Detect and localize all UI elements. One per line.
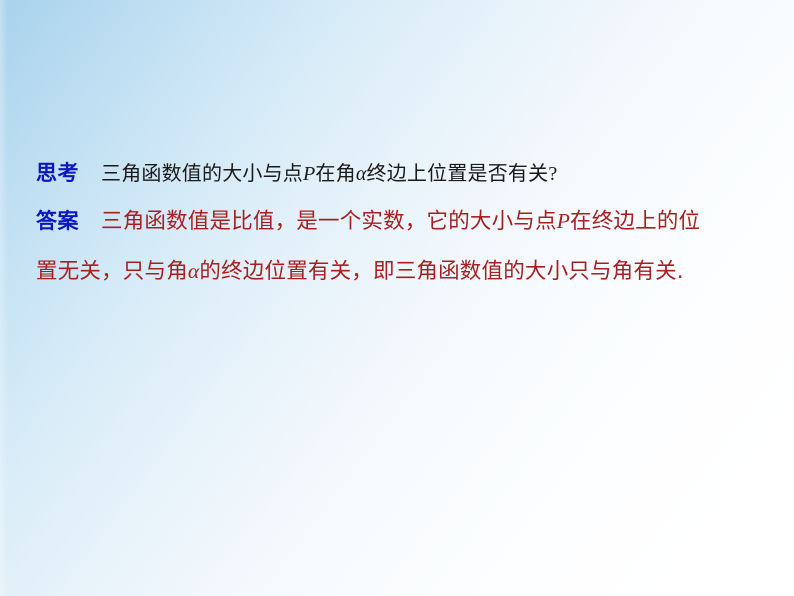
thinking-row: 思考三角函数值的大小与点P在角α终边上位置是否有关? [36, 150, 762, 196]
thinking-point-symbol: P [303, 163, 315, 185]
slide-content: 思考三角函数值的大小与点P在角α终边上位置是否有关? 答案三角函数值是比值，是一… [36, 150, 762, 296]
answer-line2-part2: 的终边位置有关，即三角函数值的大小只与角有关. [199, 259, 683, 284]
answer-line2-part1: 置无关，只与角 [36, 259, 188, 284]
thinking-label: 思考 [36, 161, 79, 185]
answer-line1-point-symbol: P [557, 209, 570, 233]
thinking-question-part1: 三角函数值的大小与点 [101, 163, 303, 185]
answer-line1-part2: 在终边上的位 [570, 209, 700, 234]
thinking-question-part3: 终边上位置是否有关? [367, 163, 558, 185]
slide-canvas: 思考三角函数值的大小与点P在角α终边上位置是否有关? 答案三角函数值是比值，是一… [0, 0, 794, 596]
answer-line1-part1: 三角函数值是比值，是一个实数，它的大小与点 [101, 209, 557, 234]
answer-row-second: 置无关，只与角α的终边位置有关，即三角函数值的大小只与角有关. [36, 246, 762, 296]
thinking-question-part2: 在角 [315, 163, 355, 185]
thinking-angle-symbol: α [356, 163, 367, 185]
answer-label: 答案 [36, 209, 79, 233]
answer-row-first: 答案三角函数值是比值，是一个实数，它的大小与点P在终边上的位 [36, 196, 762, 246]
answer-line2-angle-symbol: α [188, 259, 200, 283]
